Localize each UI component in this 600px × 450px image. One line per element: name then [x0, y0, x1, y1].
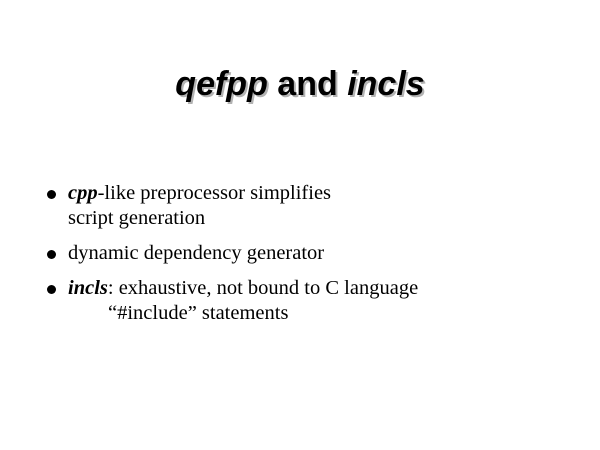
- list-item: dynamic dependency generator: [46, 241, 566, 266]
- list-item-body: -like preprocessor simplifies: [98, 182, 331, 204]
- list-item: cpp-like preprocessor simplifies script …: [46, 181, 566, 231]
- list-item-body: : exhaustive, not bound to C language: [108, 277, 418, 299]
- title-term-qefpp: qefpp: [175, 65, 268, 103]
- title-term-incls: incls: [347, 65, 424, 103]
- filled-circle-bullet-icon: [47, 250, 56, 259]
- list-item-emphasis: incls: [68, 277, 108, 299]
- list-item-text: cpp-like preprocessor simplifies: [68, 181, 566, 206]
- title-space-1: [268, 65, 277, 103]
- list-item-text: dynamic dependency generator: [68, 241, 566, 266]
- list-item-text: incls: exhaustive, not bound to C langua…: [68, 276, 566, 301]
- list-item-wrap-line: script generation: [68, 206, 566, 231]
- list-item-body: dynamic dependency generator: [68, 242, 324, 264]
- title-conjunction: and: [277, 65, 337, 103]
- list-item-wrap-line: “#include” statements: [68, 301, 566, 326]
- filled-circle-bullet-icon: [47, 190, 56, 199]
- slide-title: qefpp and incls: [0, 64, 600, 104]
- title-space-2: [338, 65, 347, 103]
- presentation-slide: qefpp and incls cpp-like preprocessor si…: [0, 0, 600, 450]
- list-item: incls: exhaustive, not bound to C langua…: [46, 276, 566, 326]
- filled-circle-bullet-icon: [47, 285, 56, 294]
- list-item-emphasis: cpp: [68, 182, 98, 204]
- bullet-list: cpp-like preprocessor simplifies script …: [46, 181, 566, 326]
